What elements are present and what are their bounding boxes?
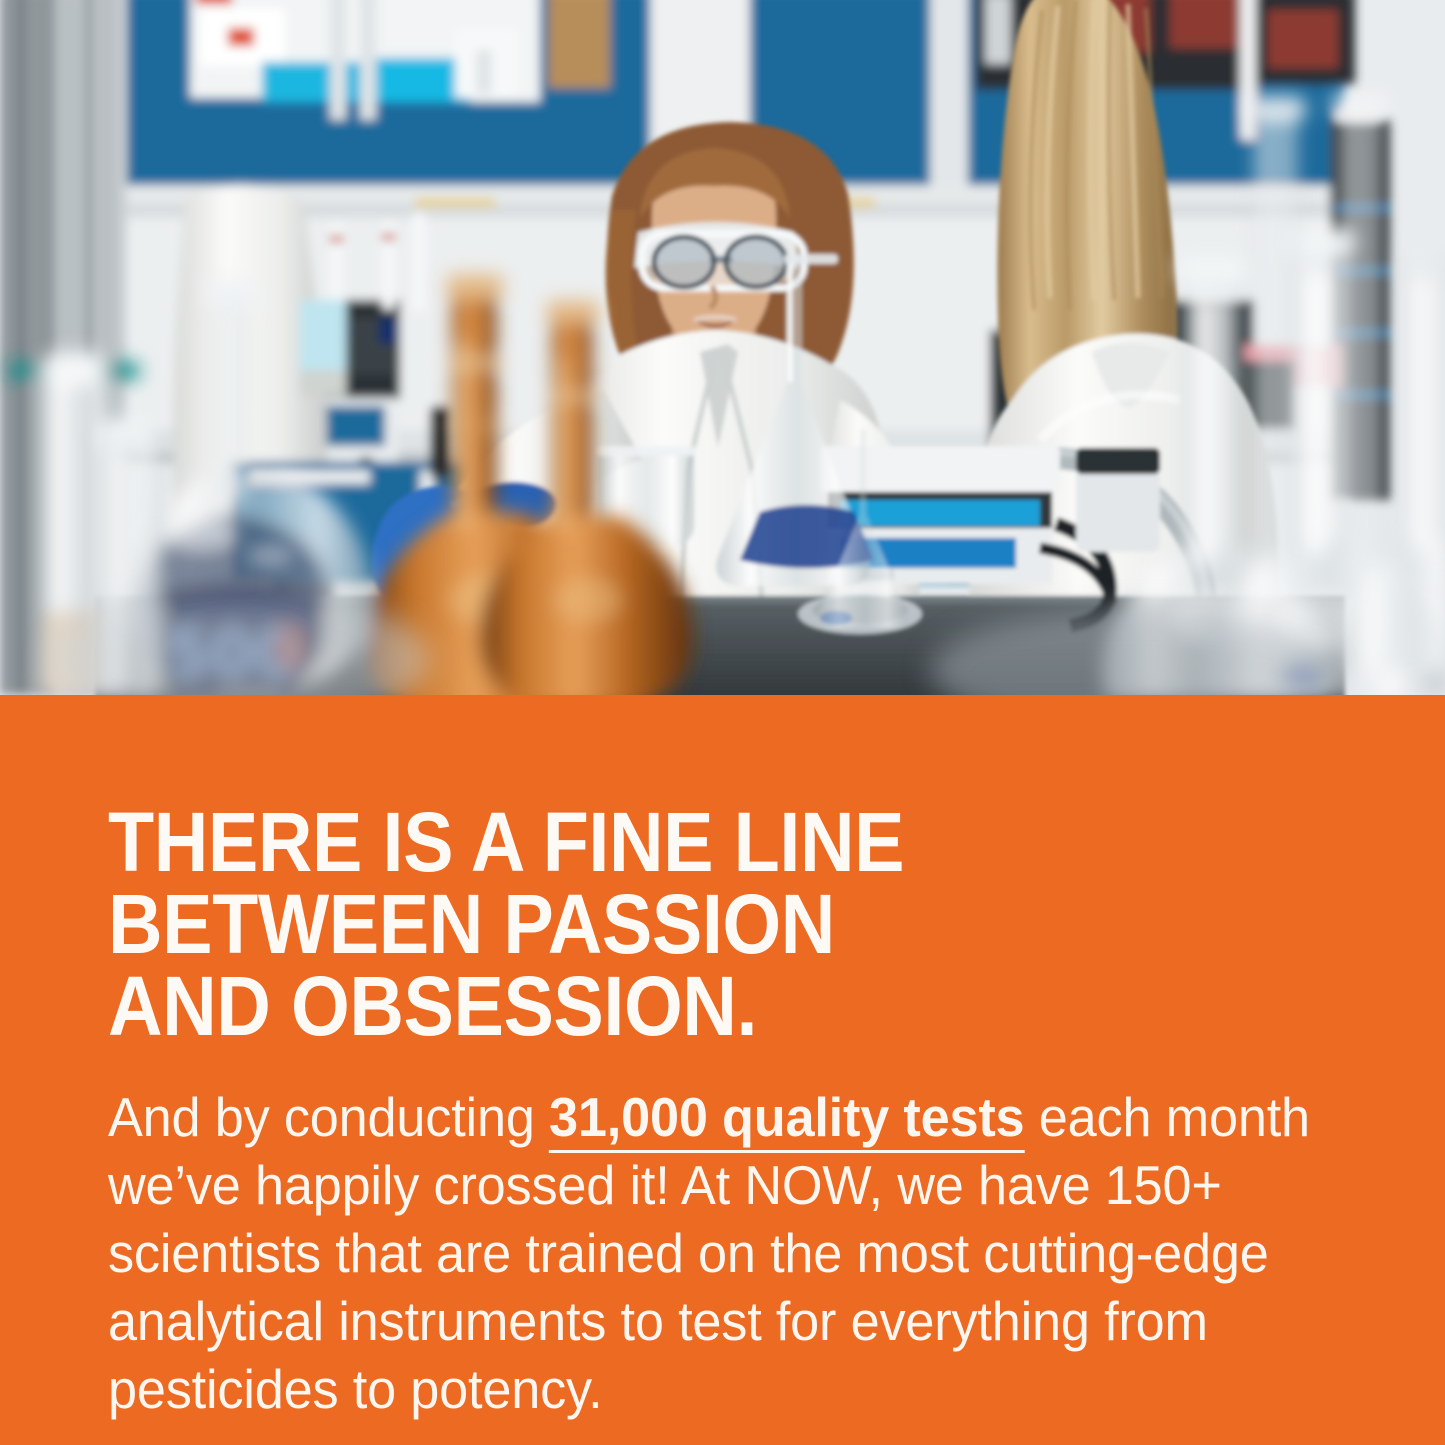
quality-tests-stat: 31,000 quality tests — [549, 1086, 1024, 1153]
body-copy: And by conducting 31,000 quality tests e… — [108, 1083, 1324, 1423]
laboratory-photo: 500 — [0, 0, 1445, 695]
orange-text-panel: THERE IS A FINE LINE BETWEEN PASSION AND… — [0, 695, 1445, 1445]
safety-goggles — [634, 222, 804, 288]
page-title: THERE IS A FINE LINE BETWEEN PASSION AND… — [108, 801, 1215, 1047]
promotional-poster: 500 — [0, 0, 1445, 1445]
body-copy-before: And by conducting — [108, 1086, 549, 1148]
laboratory-scene-illustration: 500 — [0, 0, 1445, 695]
